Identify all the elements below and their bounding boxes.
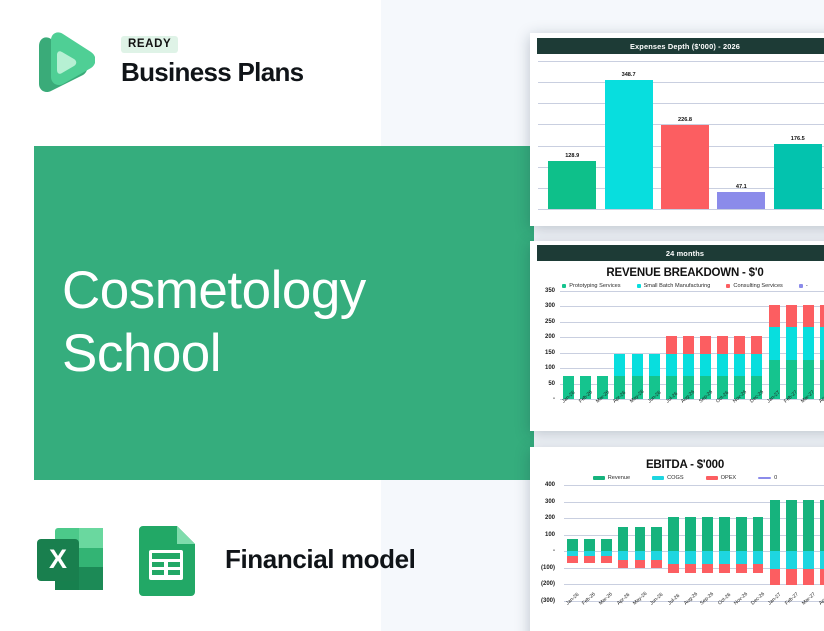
y-tick-label: 50 [548, 381, 555, 387]
microsoft-excel-icon: X [33, 520, 111, 598]
legend-item: Consulting Services [726, 283, 782, 289]
bar-segment [700, 336, 711, 354]
footer-row: X Financial model [33, 519, 416, 599]
legend-item: COGS [652, 475, 683, 481]
legend-label: 0 [774, 475, 777, 481]
bar-segment [786, 327, 797, 359]
brand-logotype: READY Business Plans [121, 34, 303, 88]
stacked-bar-column [783, 291, 800, 399]
bar [548, 161, 596, 209]
y-tick-label: (200) [541, 581, 555, 587]
bar-segment [734, 354, 745, 376]
legend-swatch [799, 284, 803, 288]
legend-swatch [652, 476, 664, 480]
y-tick-label: 250 [545, 319, 555, 325]
y-tick-label: 350 [545, 288, 555, 294]
bar-segment [666, 354, 677, 376]
brand-logo: READY Business Plans [33, 30, 363, 102]
legend-item: Small Batch Manufacturing [637, 283, 711, 289]
y-tick-label: 100 [545, 532, 555, 538]
legend-item: Revenue [593, 475, 630, 481]
revenue-breakdown-card: 24 months REVENUE BREAKDOWN - $'0 Protot… [530, 241, 824, 431]
stacked-bar-column [577, 291, 594, 399]
bar-segment [734, 336, 745, 354]
svg-text:X: X [49, 544, 67, 574]
brand-name: Business Plans [121, 57, 303, 88]
y-tick-label: 400 [545, 482, 555, 488]
bar-segment [666, 336, 677, 354]
bar-value-label: 176.5 [774, 136, 822, 142]
bar-segment [683, 354, 694, 376]
bar-column: 47.1 [717, 61, 765, 209]
legend-item: 0 [758, 475, 777, 481]
y-tick-label: - [553, 396, 555, 402]
bar [717, 192, 765, 209]
bar-value-label: 47.1 [717, 184, 765, 190]
revenue-breakdown-legend: Prototyping ServicesSmall Batch Manufact… [538, 283, 824, 289]
y-tick-label: - [553, 548, 555, 554]
ready-badge: READY [121, 36, 178, 53]
expenses-depth-card: Expenses Depth ($'000) - 2026 128.9348.7… [530, 33, 824, 226]
revenue-breakdown-header: 24 months [537, 245, 824, 261]
y-tick-label: 300 [545, 499, 555, 505]
play-triangle-logo-icon [33, 30, 95, 96]
bar-segment [820, 360, 824, 399]
bar-column: 226.8 [661, 61, 709, 209]
bar-segment [769, 305, 780, 328]
bar-segment [769, 327, 780, 359]
bar-segment [803, 305, 814, 328]
bar-segment [751, 336, 762, 354]
bar-segment [717, 354, 728, 376]
legend-swatch [706, 476, 718, 480]
bar [605, 80, 653, 209]
ebitda-legend: RevenueCOGSOPEX0 [538, 475, 824, 481]
legend-item: - [799, 283, 808, 289]
expenses-depth-header: Expenses Depth ($'000) - 2026 [537, 38, 824, 54]
legend-label: Prototyping Services [569, 283, 620, 289]
revenue-breakdown-title: REVENUE BREAKDOWN - $'0 [538, 267, 824, 279]
legend-item: OPEX [706, 475, 737, 481]
ebitda-chart [564, 485, 824, 601]
footer-label: Financial model [225, 544, 416, 575]
legend-label: COGS [667, 475, 683, 481]
bar-segment [683, 336, 694, 354]
legend-label: - [806, 283, 808, 289]
ebitda-card: EBITDA - $'000 RevenueCOGSOPEX0 40030020… [530, 447, 824, 631]
stacked-bar-column [594, 291, 611, 399]
bar-segment [717, 336, 728, 354]
stacked-bar-column [611, 291, 628, 399]
y-tick-label: 200 [545, 334, 555, 340]
bar-value-label: 348.7 [605, 72, 653, 78]
stacked-bar-column [748, 291, 765, 399]
legend-swatch [726, 284, 730, 288]
bar-column: 128.9 [548, 61, 596, 209]
legend-label: Small Batch Manufacturing [644, 283, 711, 289]
stacked-bar-column [731, 291, 748, 399]
x-tick: Jan-26 [560, 400, 577, 430]
bar [661, 125, 709, 209]
y-tick-label: 300 [545, 303, 555, 309]
expenses-depth-chart: 128.9348.7226.847.1176.5 [538, 61, 824, 209]
bar-segment [649, 354, 660, 376]
bar-segment [803, 327, 814, 359]
page-title: Cosmetology School [62, 260, 482, 385]
legend-label: Consulting Services [733, 283, 782, 289]
bar-segment [614, 354, 625, 376]
bar [774, 144, 822, 209]
bar-segment [632, 354, 643, 376]
bar-segment [700, 354, 711, 376]
legend-label: OPEX [721, 475, 737, 481]
stacked-bar-column [766, 291, 783, 399]
bar-column: 348.7 [605, 61, 653, 209]
legend-item: Prototyping Services [562, 283, 620, 289]
stacked-bar-column [560, 291, 577, 399]
stacked-bar-column [800, 291, 817, 399]
bar-value-label: 226.8 [661, 117, 709, 123]
bar-column: 176.5 [774, 61, 822, 209]
ebitda-title: EBITDA - $'000 [538, 459, 824, 471]
legend-swatch [758, 477, 771, 479]
bar-segment [786, 305, 797, 328]
legend-swatch [593, 476, 605, 480]
legend-swatch [637, 284, 641, 288]
legend-swatch [562, 284, 566, 288]
gridline [538, 209, 824, 210]
y-tick-label: 200 [545, 515, 555, 521]
bar-segment [751, 354, 762, 376]
stacked-bar-column [680, 291, 697, 399]
y-tick-label: 150 [545, 350, 555, 356]
stacked-bar-column [817, 291, 824, 399]
stacked-bar-column [629, 291, 646, 399]
bar-value-label: 128.9 [548, 153, 596, 159]
stacked-bar-column [697, 291, 714, 399]
bar-segment [820, 327, 824, 359]
bar-segment [820, 305, 824, 328]
revenue-breakdown-chart [560, 291, 824, 399]
y-tick-label: (100) [541, 565, 555, 571]
stacked-bar-column [646, 291, 663, 399]
stacked-bar-column [714, 291, 731, 399]
y-tick-label: 100 [545, 365, 555, 371]
stacked-bar-column [663, 291, 680, 399]
google-sheets-icon [133, 520, 199, 598]
legend-label: Revenue [608, 475, 630, 481]
y-tick-label: (300) [541, 598, 555, 604]
poster-canvas: READY Business Plans Cosmetology School … [0, 0, 824, 631]
